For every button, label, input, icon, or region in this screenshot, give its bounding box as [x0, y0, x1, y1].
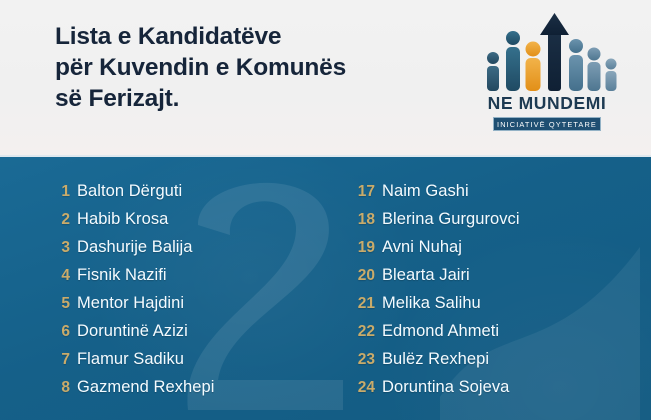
- candidate-column-right: 17 Naim Gashi 18 Blerina Gurgurovci 19 A…: [353, 177, 643, 401]
- candidate-number: 22: [353, 318, 375, 346]
- candidate-number: 1: [58, 178, 70, 206]
- list-item[interactable]: 19 Avni Nuhaj: [353, 233, 643, 261]
- logo-name-text: Ne Mundemi: [472, 93, 622, 114]
- candidate-name: Gazmend Rexhepi: [77, 373, 214, 401]
- candidate-name: Balton Dërguti: [77, 177, 182, 205]
- candidate-number: 2: [58, 206, 70, 234]
- list-item[interactable]: 1 Balton Dërguti: [58, 177, 348, 205]
- candidate-name: Bulëz Rexhepi: [382, 345, 489, 373]
- list-item[interactable]: 21 Melika Salihu: [353, 289, 643, 317]
- candidate-number: 5: [58, 290, 70, 318]
- candidate-list-body: 1 Balton Dërguti 2 Habib Krosa 3 Dashuri…: [0, 157, 651, 420]
- candidate-number: 4: [58, 262, 70, 290]
- candidate-number: 20: [353, 262, 375, 290]
- candidate-name: Blearta Jairi: [382, 261, 470, 289]
- candidate-name: Fisnik Nazifi: [77, 261, 167, 289]
- list-item[interactable]: 2 Habib Krosa: [58, 205, 348, 233]
- candidate-name: Blerina Gurgurovci: [382, 205, 520, 233]
- list-item[interactable]: 5 Mentor Hajdini: [58, 289, 348, 317]
- candidate-number: 23: [353, 346, 375, 374]
- list-item[interactable]: 22 Edmond Ahmeti: [353, 317, 643, 345]
- candidate-name: Edmond Ahmeti: [382, 317, 499, 345]
- candidate-number: 19: [353, 234, 375, 262]
- organization-logo: Ne Mundemi INICIATIVË QYTETARE: [472, 11, 622, 136]
- list-item[interactable]: 23 Bulëz Rexhepi: [353, 345, 643, 373]
- list-item[interactable]: 7 Flamur Sadiku: [58, 345, 348, 373]
- list-item[interactable]: 18 Blerina Gurgurovci: [353, 205, 643, 233]
- list-item[interactable]: 6 Doruntinë Azizi: [58, 317, 348, 345]
- candidate-number: 7: [58, 346, 70, 374]
- list-item[interactable]: 8 Gazmend Rexhepi: [58, 373, 348, 401]
- candidate-name: Naim Gashi: [382, 177, 469, 205]
- candidate-name: Dashurije Balija: [77, 233, 192, 261]
- candidate-number: 18: [353, 206, 375, 234]
- candidate-number: 3: [58, 234, 70, 262]
- candidate-list-poster: Lista e Kandidatëve për Kuvendin e Komun…: [0, 0, 651, 420]
- list-item[interactable]: 17 Naim Gashi: [353, 177, 643, 205]
- list-item[interactable]: 3 Dashurije Balija: [58, 233, 348, 261]
- poster-header: Lista e Kandidatëve për Kuvendin e Komun…: [0, 0, 651, 157]
- candidate-name: Mentor Hajdini: [77, 289, 184, 317]
- list-item[interactable]: 24 Doruntina Sojeva: [353, 373, 643, 401]
- candidate-number: 24: [353, 374, 375, 402]
- candidate-name: Habib Krosa: [77, 205, 168, 233]
- candidate-number: 17: [353, 178, 375, 206]
- list-item[interactable]: 20 Blearta Jairi: [353, 261, 643, 289]
- candidate-columns: 1 Balton Dërguti 2 Habib Krosa 3 Dashuri…: [0, 157, 651, 420]
- candidate-column-left: 1 Balton Dërguti 2 Habib Krosa 3 Dashuri…: [58, 177, 348, 401]
- candidate-name: Flamur Sadiku: [77, 345, 184, 373]
- list-item[interactable]: 4 Fisnik Nazifi: [58, 261, 348, 289]
- candidate-name: Avni Nuhaj: [382, 233, 462, 261]
- candidate-number: 8: [58, 374, 70, 402]
- candidate-name: Melika Salihu: [382, 289, 481, 317]
- page-title: Lista e Kandidatëve për Kuvendin e Komun…: [55, 21, 455, 114]
- candidate-name: Doruntina Sojeva: [382, 373, 509, 401]
- candidate-number: 21: [353, 290, 375, 318]
- candidate-name: Doruntinë Azizi: [77, 317, 188, 345]
- logo-tagline: INICIATIVË QYTETARE: [493, 117, 601, 131]
- candidate-number: 6: [58, 318, 70, 346]
- logo-mark-icon: [472, 11, 622, 91]
